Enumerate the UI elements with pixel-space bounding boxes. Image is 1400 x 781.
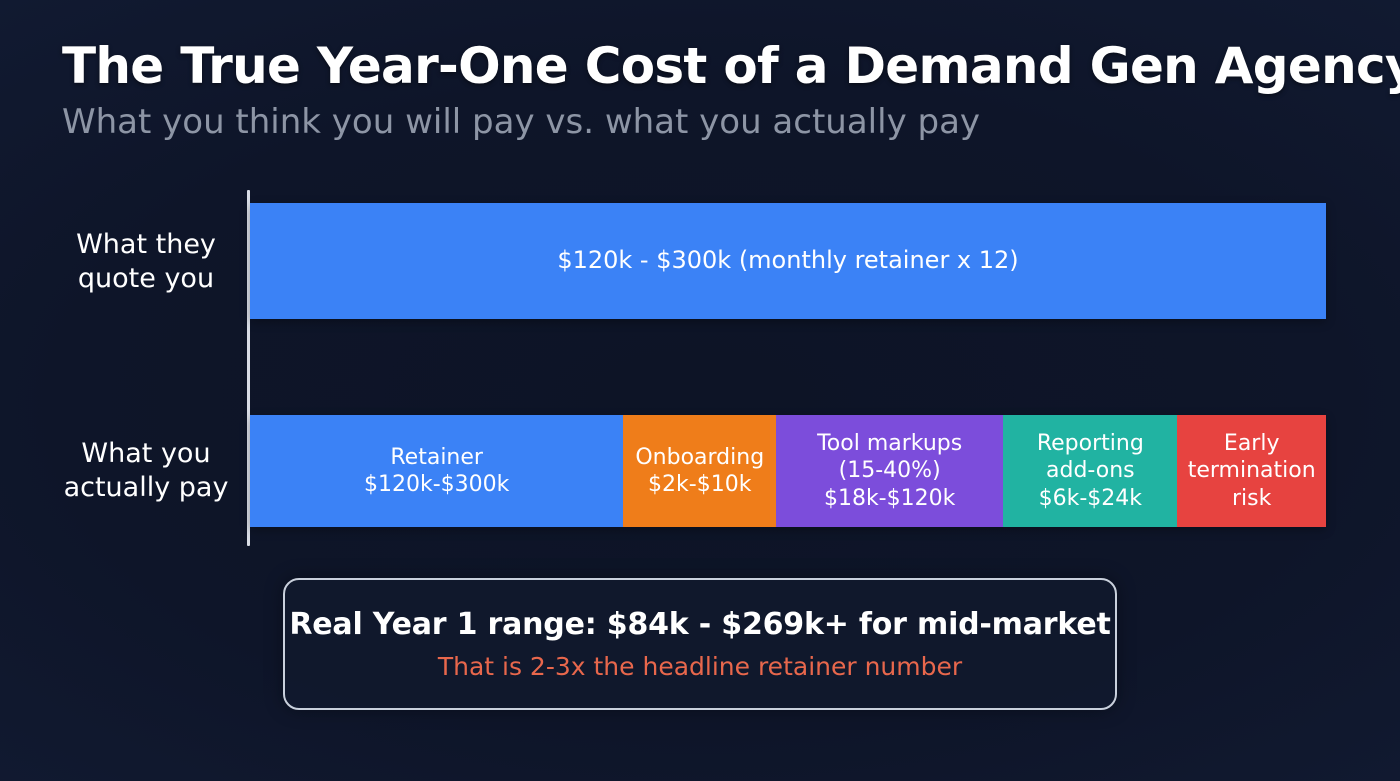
- bar-segment-reporting-addons-label: Reporting add-ons $6k-$24k: [1037, 430, 1144, 512]
- bar-segment-early-termination-risk-line2: termination: [1188, 458, 1316, 483]
- bar-segment-quoted-retainer-label: $120k - $300k (monthly retainer x 12): [557, 246, 1018, 276]
- bar-row-label-quoted-line1: What they quote you: [62, 228, 230, 296]
- bar-row-label-quoted: What they quote you: [62, 228, 230, 296]
- bar-segment-tool-markups[interactable]: Tool markups (15-40%) $18k-$120k: [776, 415, 1003, 527]
- bar-segment-early-termination-risk-line1: Early: [1224, 431, 1280, 456]
- bar-segment-early-termination-risk-label: Early termination risk: [1188, 430, 1316, 512]
- bar-segment-tool-markups-line3: $18k-$120k: [824, 486, 955, 511]
- bar-segment-retainer[interactable]: Retainer $120k-$300k: [250, 415, 623, 527]
- summary-callout: Real Year 1 range: $84k - $269k+ for mid…: [283, 578, 1117, 710]
- bar-segment-retainer-label: Retainer $120k-$300k: [364, 444, 509, 499]
- bar-segment-onboarding-label: Onboarding $2k-$10k: [635, 444, 764, 499]
- bar-segment-onboarding[interactable]: Onboarding $2k-$10k: [623, 415, 776, 527]
- bar-segment-quoted-retainer[interactable]: $120k - $300k (monthly retainer x 12): [250, 203, 1326, 319]
- bar-segment-reporting-addons-line3: $6k-$24k: [1039, 486, 1142, 511]
- bar-segment-reporting-addons-line2: add-ons: [1046, 458, 1135, 483]
- bar-segment-onboarding-line2: $2k-$10k: [648, 472, 751, 497]
- bar-segment-retainer-line2: $120k-$300k: [364, 472, 509, 497]
- bar-row-label-actual: What you actually pay: [62, 437, 230, 505]
- bar-segment-reporting-addons-line1: Reporting: [1037, 431, 1144, 456]
- slide-root: The True Year-One Cost of a Demand Gen A…: [0, 0, 1400, 781]
- bar-segment-reporting-addons[interactable]: Reporting add-ons $6k-$24k: [1003, 415, 1177, 527]
- summary-callout-headline: Real Year 1 range: $84k - $269k+ for mid…: [289, 608, 1110, 641]
- bar-actual: Retainer $120k-$300k Onboarding $2k-$10k…: [250, 415, 1326, 527]
- bar-segment-onboarding-line1: Onboarding: [635, 445, 764, 470]
- bar-quoted: $120k - $300k (monthly retainer x 12): [250, 203, 1326, 319]
- bar-segment-early-termination-risk-line3: risk: [1232, 486, 1271, 511]
- summary-callout-subline: That is 2-3x the headline retainer numbe…: [438, 653, 962, 681]
- bar-segment-tool-markups-line2: (15-40%): [839, 458, 941, 483]
- bar-segment-retainer-line1: Retainer: [390, 445, 483, 470]
- bar-segment-tool-markups-label: Tool markups (15-40%) $18k-$120k: [817, 430, 962, 512]
- bar-segment-early-termination-risk[interactable]: Early termination risk: [1177, 415, 1325, 527]
- bar-segment-tool-markups-line1: Tool markups: [817, 431, 962, 456]
- bar-row-label-actual-line1: What you actually pay: [62, 437, 230, 505]
